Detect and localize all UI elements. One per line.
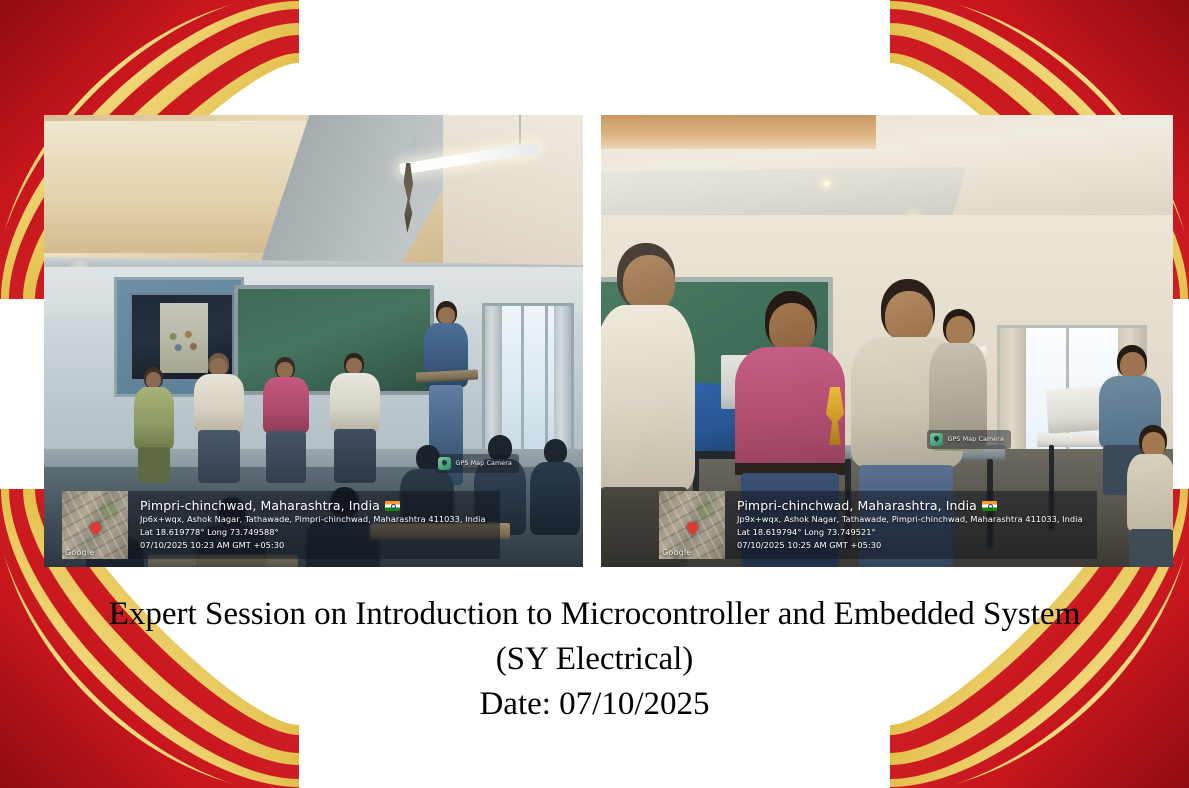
gps-coordinates: Lat 18.619794° Long 73.749521° [737, 527, 1083, 539]
gps-timestamp: 07/10/2025 10:25 AM GMT +05:30 [737, 540, 1083, 552]
gps-overlay: Google Pimpri-chinchwad, Maharashtra, In… [659, 491, 1097, 559]
gps-text-block: Pimpri-chinchwad, Maharashtra, India Jp9… [725, 491, 1097, 559]
gps-text-block: Pimpri-chinchwad, Maharashtra, India Jp6… [128, 491, 500, 559]
person-audience-right-2 [1127, 425, 1173, 567]
photo-left[interactable]: GPS Map Camera Google Pimpri-chinchwad, … [44, 115, 583, 567]
event-report-slide: GPS Map Camera Google Pimpri-chinchwad, … [0, 0, 1189, 788]
gps-address: Jp9x+wqx, Ashok Nagar, Tathawade, Pimpri… [737, 514, 1083, 526]
gps-place-row: Pimpri-chinchwad, Maharashtra, India [140, 498, 486, 514]
gps-place-row: Pimpri-chinchwad, Maharashtra, India [737, 498, 1083, 514]
map-pin-icon [88, 520, 104, 536]
person-panelist-1 [132, 367, 176, 483]
gps-timestamp: 07/10/2025 10:23 AM GMT +05:30 [140, 540, 486, 552]
person-panelist-2 [194, 353, 244, 483]
gps-map-camera-icon [438, 457, 451, 470]
gps-address: Jp6x+wqx, Ashok Nagar, Tathawade, Pimpri… [140, 514, 486, 526]
person-panelist-4 [330, 353, 380, 483]
caption-subtitle: (SY Electrical) [40, 637, 1149, 682]
gps-coordinates: Lat 18.619778° Long 73.749588° [140, 527, 486, 539]
gps-map-thumbnail: Google [659, 491, 725, 559]
google-attribution: Google [662, 548, 691, 557]
caption-date: Date: 07/10/2025 [40, 682, 1149, 727]
gps-map-thumbnail: Google [62, 491, 128, 559]
gps-map-camera-label: GPS Map Camera [947, 436, 1004, 443]
gps-map-camera-watermark: GPS Map Camera [927, 430, 1011, 449]
photo-gallery: GPS Map Camera Google Pimpri-chinchwad, … [44, 115, 1173, 567]
gps-place: Pimpri-chinchwad, Maharashtra, India [737, 498, 977, 514]
slide-caption: Expert Session on Introduction to Microc… [40, 592, 1149, 728]
person-panelist-3 [262, 357, 310, 483]
map-pin-icon [685, 520, 701, 536]
india-flag-icon [385, 501, 400, 511]
person-audience-6 [530, 439, 580, 535]
gps-map-camera-watermark: GPS Map Camera [435, 454, 519, 473]
gps-map-camera-icon [930, 433, 943, 446]
gps-map-camera-label: GPS Map Camera [455, 460, 512, 467]
gps-overlay: Google Pimpri-chinchwad, Maharashtra, In… [62, 491, 500, 559]
google-attribution: Google [65, 548, 94, 557]
caption-title: Expert Session on Introduction to Microc… [40, 592, 1149, 637]
india-flag-icon [982, 501, 997, 511]
photo-right[interactable]: GPS Map Camera Google Pimpri-chinchwad, … [601, 115, 1173, 567]
gps-place: Pimpri-chinchwad, Maharashtra, India [140, 498, 380, 514]
